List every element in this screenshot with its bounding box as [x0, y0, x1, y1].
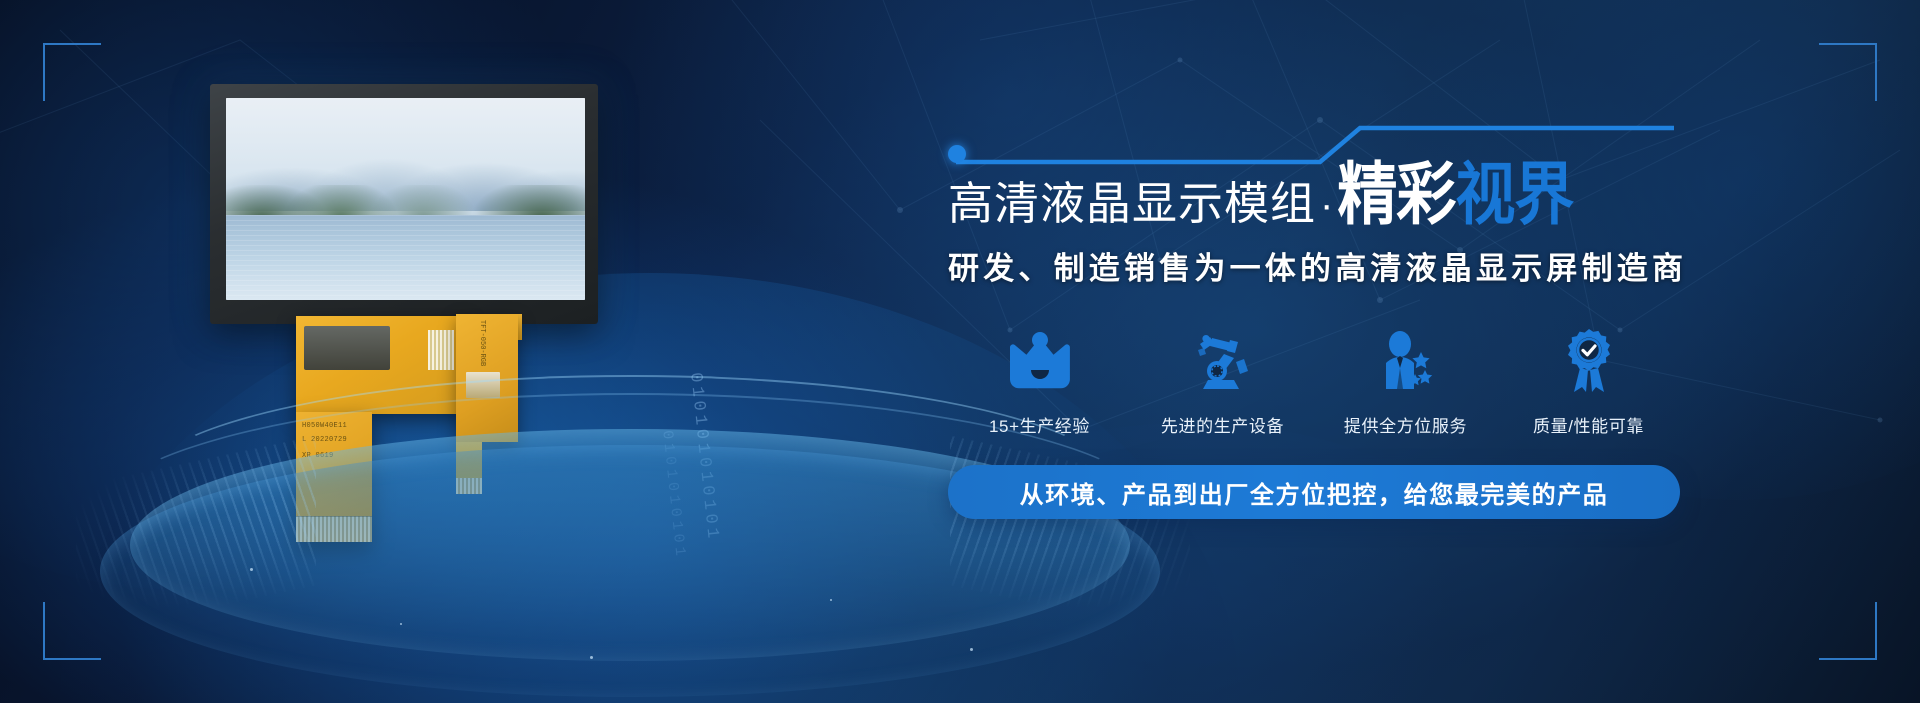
- lcd-screen-landscape: [226, 98, 585, 300]
- pcb-label-lot: L 20220729: [302, 436, 368, 444]
- pcb-driver-board: [296, 316, 468, 414]
- pcb-flex-tail: H050W40E11 L 20220729 XR 0619: [296, 412, 372, 542]
- pcb-label-code: XR 0619: [302, 452, 368, 460]
- promo-ribbon-bar[interactable]: 从环境、产品到出厂全方位把控，给您最完美的产品: [948, 465, 1680, 519]
- pcb-side-connector-pins: [456, 478, 482, 494]
- pcb-connector-pins: [296, 516, 372, 542]
- crown-icon: [1004, 322, 1076, 400]
- feature-item-equipment: 先进的生产设备: [1131, 322, 1314, 437]
- feature-list: 15+生产经验: [948, 322, 1680, 437]
- feature-label: 先进的生产设备: [1161, 412, 1284, 437]
- feature-label: 15+生产经验: [989, 412, 1090, 437]
- headline-highlight: 精彩视界: [1337, 162, 1573, 227]
- screen-lake: [226, 215, 585, 300]
- person-stars-icon: [1373, 322, 1439, 400]
- pcb-side-board: TFT-050-RGB: [456, 314, 518, 442]
- corner-bracket-top-left: [43, 43, 101, 101]
- promo-ribbon-text: 从环境、产品到出厂全方位把控，给您最完美的产品: [1020, 475, 1609, 510]
- feature-item-experience: 15+生产经验: [948, 322, 1131, 437]
- feature-item-service: 提供全方位服务: [1314, 322, 1497, 437]
- feature-label: 提供全方位服务: [1344, 412, 1467, 437]
- accent-dot: [948, 145, 966, 163]
- headline-highlight-blue: 视界: [1455, 156, 1573, 232]
- product-image-lcd-module: H050W40E11 L 20220729 XR 0619 TFT-050-RG…: [200, 68, 760, 568]
- pcb-side-connector: [456, 442, 482, 494]
- pcb-chip: [466, 372, 500, 398]
- headline-highlight-white: 精彩: [1337, 156, 1455, 232]
- screen-forest: [226, 185, 585, 217]
- promo-banner: 010101010101 0101010101 H050W40E11 L 202…: [0, 0, 1920, 703]
- banner-content: 高清液晶显示模组 · 精彩视界 研发、制造销售为一体的高清液晶显示屏制造商 15…: [948, 118, 1708, 519]
- corner-bracket-bottom-right: [1819, 602, 1877, 660]
- headline-separator: ·: [1316, 185, 1337, 227]
- quality-badge-icon: [1560, 322, 1618, 400]
- pcb-label-model: H050W40E11: [302, 422, 368, 430]
- lcd-bezel: [210, 84, 598, 324]
- pcb-label-side-code: TFT-050-RGB: [478, 320, 486, 366]
- feature-label: 质量/性能可靠: [1533, 412, 1644, 437]
- corner-bracket-bottom-left: [43, 602, 101, 660]
- headline-main: 高清液晶显示模组: [948, 180, 1316, 227]
- robot-arm-icon: [1190, 322, 1256, 400]
- headline-row: 高清液晶显示模组 · 精彩视界: [948, 170, 1708, 227]
- feature-item-quality: 质量/性能可靠: [1497, 322, 1680, 437]
- corner-bracket-top-right: [1819, 43, 1877, 101]
- headline-subtitle: 研发、制造销售为一体的高清液晶显示屏制造商: [948, 243, 1708, 288]
